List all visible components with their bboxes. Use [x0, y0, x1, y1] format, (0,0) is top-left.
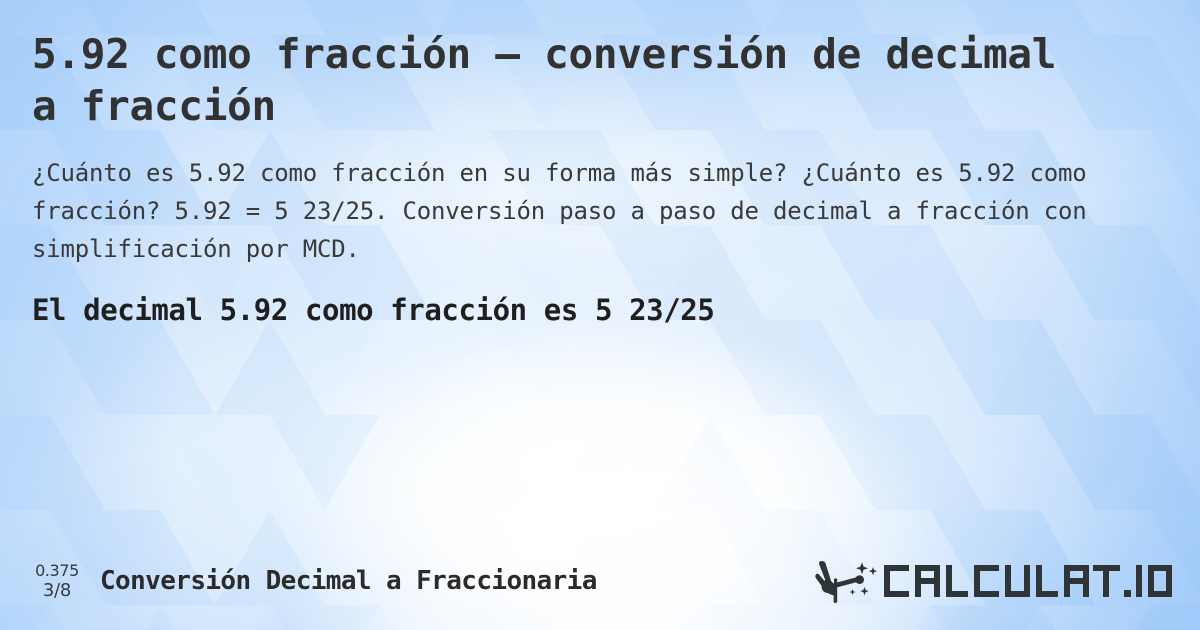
footer-section-title: Conversión Decimal a Fraccionaria: [100, 566, 597, 596]
fraction-icon-fraction: 3/8: [43, 582, 71, 600]
card-footer: 0.375 3/8 Conversión Decimal a Fracciona…: [28, 556, 1174, 606]
page-title: 5.92 como fracción – conversión de decim…: [32, 28, 1077, 132]
fraction-example-icon: 0.375 3/8: [28, 563, 86, 600]
footer-left-group: 0.375 3/8 Conversión Decimal a Fracciona…: [28, 563, 597, 600]
hand-magic-wand-icon: [814, 558, 880, 604]
brand-logo[interactable]: CALCULAT.IO: [814, 558, 1174, 604]
page-description: ¿Cuánto es 5.92 como fracción en su form…: [32, 154, 1127, 268]
answer-line: El decimal 5.92 como fracción es 5 23/25: [32, 290, 1168, 330]
og-card: 5.92 como fracción – conversión de decim…: [0, 0, 1200, 630]
brand-wordmark: [882, 559, 1174, 603]
fraction-icon-decimal: 0.375: [35, 563, 79, 579]
card-content: 5.92 como fracción – conversión de decim…: [0, 0, 1200, 630]
